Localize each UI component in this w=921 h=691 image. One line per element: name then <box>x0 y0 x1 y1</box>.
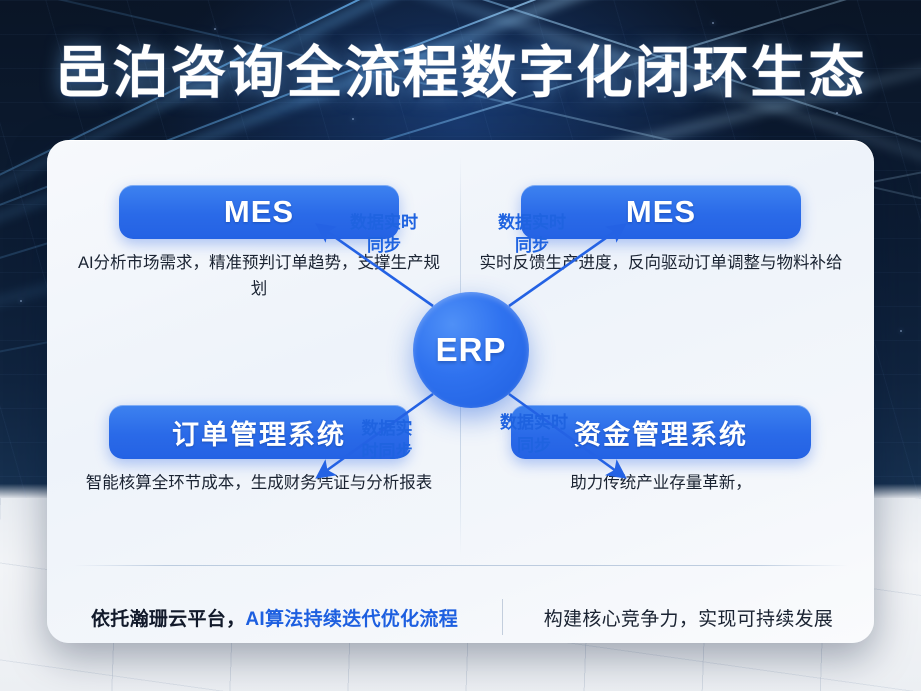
flow-label-top-right: 数据实时 同步 <box>477 212 587 258</box>
flow-label-bottom-right: 数据实时 同步 <box>479 412 589 458</box>
flow-label-line1: 数据实 <box>337 418 437 441</box>
diagram-card: ERP 数据实时 同步 数据实时 同步 数据实 时同步 数据实时 同步 MES … <box>47 140 874 643</box>
flow-label-line1: 数据实时 <box>329 212 439 235</box>
slide-canvas: 邑泊咨询全流程数字化闭环生态 ERP 数据实时 同步 <box>0 0 921 691</box>
erp-hub[interactable]: ERP <box>413 292 529 408</box>
flow-label-line1: 数据实时 <box>479 412 589 435</box>
flow-label-line2: 同步 <box>329 235 439 258</box>
flow-label-line2: 同步 <box>477 235 587 258</box>
flow-label-bottom-left: 数据实 时同步 <box>337 418 437 464</box>
flow-label-line1: 数据实时 <box>477 212 587 235</box>
flow-label-line2: 同步 <box>479 435 589 458</box>
flow-label-top-left: 数据实时 同步 <box>329 212 439 258</box>
page-title: 邑泊咨询全流程数字化闭环生态 <box>0 44 921 103</box>
flow-label-line2: 时同步 <box>337 441 437 464</box>
